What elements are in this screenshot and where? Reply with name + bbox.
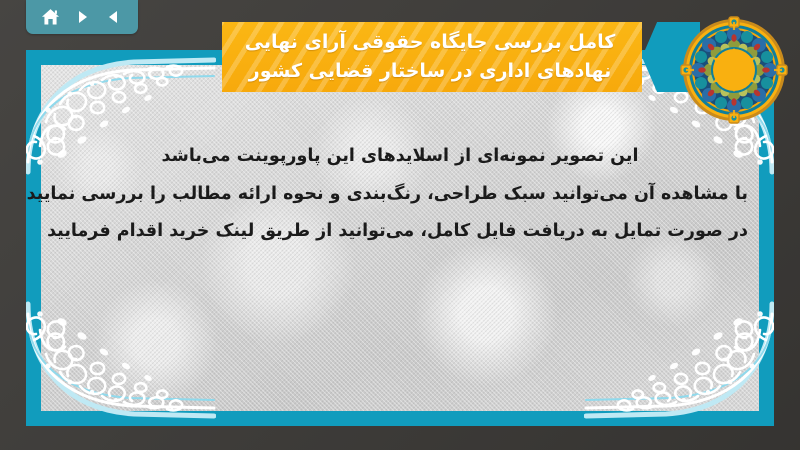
body-line-3: در صورت تمایل به دریافت فایل کامل، می‌تو…: [52, 213, 748, 251]
slide-body-text: این تصویر نمونه‌ای از اسلایدهای این پاور…: [26, 138, 774, 251]
previous-slide-button[interactable]: [101, 5, 127, 29]
title-line-1: کامل بررسی جایگاه حقوقی آرای نهایی: [245, 29, 616, 57]
body-line-2: با مشاهده آن می‌توانید سبک طراحی، رنگ‌بن…: [52, 176, 748, 214]
home-button[interactable]: [37, 5, 63, 29]
next-slide-button[interactable]: [69, 5, 95, 29]
body-line-1: این تصویر نمونه‌ای از اسلایدهای این پاور…: [52, 138, 748, 176]
triangle-left-icon: [106, 9, 122, 25]
content-frame: این تصویر نمونه‌ای از اسلایدهای این پاور…: [26, 50, 774, 426]
slide-navigation-bar: [26, 0, 138, 34]
banner-arrow-tab: [642, 22, 700, 92]
slide-title-banner: کامل بررسی جایگاه حقوقی آرای نهایی نهاده…: [222, 22, 700, 92]
home-icon: [41, 8, 60, 26]
banner-body: کامل بررسی جایگاه حقوقی آرای نهایی نهاده…: [222, 22, 642, 92]
title-line-2: نهادهای اداری در ساختار قضایی کشور: [249, 58, 611, 86]
triangle-right-icon: [74, 9, 90, 25]
slide-root: این تصویر نمونه‌ای از اسلایدهای این پاور…: [0, 0, 800, 450]
